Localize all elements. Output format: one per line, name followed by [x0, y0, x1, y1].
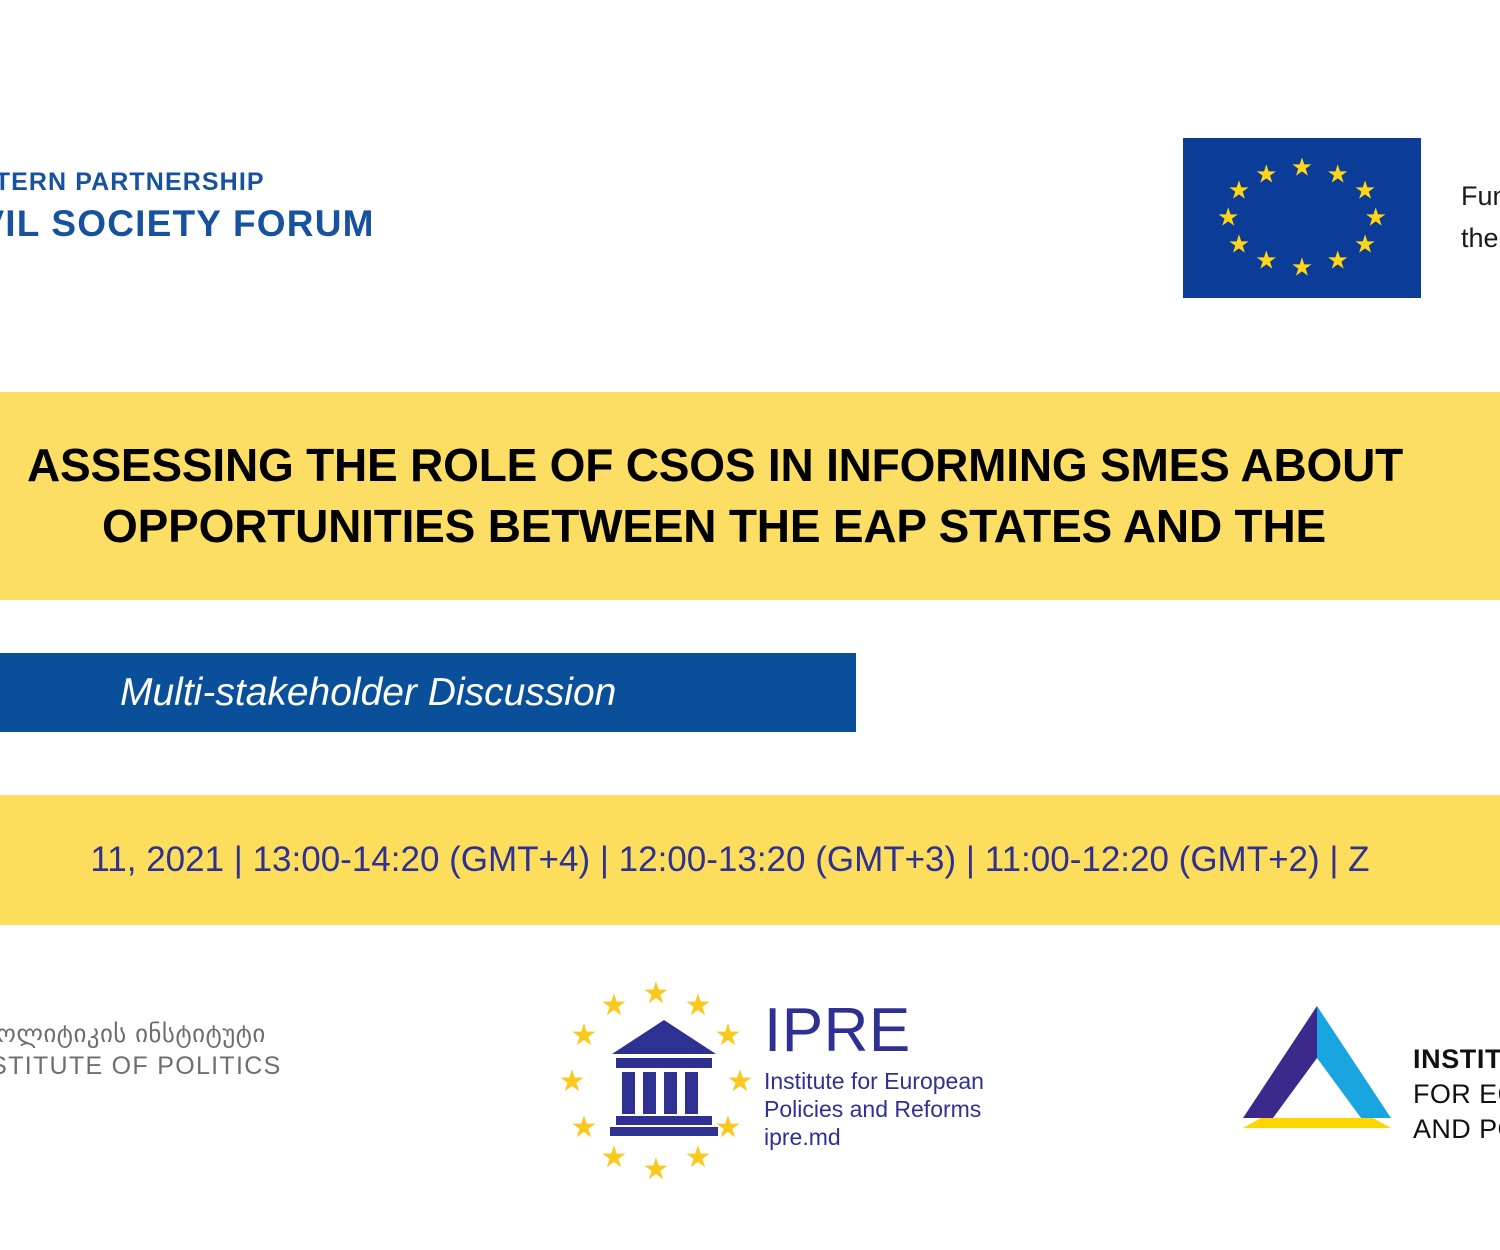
eu-star: ★: [1365, 206, 1387, 231]
partner-logo-institute-for-economic-research: INSTITUT FOR ECO AND POL: [1237, 1000, 1500, 1150]
eu-funded-by-text: Fun the: [1461, 176, 1500, 260]
eu-funded-line1: Fun: [1461, 176, 1500, 218]
eapcsf-logo-line1: EASTERN PARTNERSHIP: [0, 168, 460, 198]
eu-star: ★: [1291, 255, 1313, 280]
eu-star: ★: [1217, 206, 1239, 231]
eu-star: ★: [1228, 178, 1250, 203]
ipre-star: ★: [601, 991, 628, 1021]
triangle-mark-icon: [1237, 1000, 1397, 1135]
eu-funding-block: ★ ★ ★ ★ ★ ★ ★ ★ ★ ★ ★ ★ Fun the: [1183, 138, 1500, 298]
ier-line-3: AND POL: [1413, 1112, 1500, 1147]
ipre-star: ★: [643, 1155, 670, 1185]
title-band: ASSESSING THE ROLE OF CSOS IN INFORMING …: [0, 392, 1500, 600]
eu-star: ★: [1326, 162, 1348, 187]
eu-star: ★: [1255, 162, 1277, 187]
ipre-star: ★: [571, 1113, 598, 1143]
event-details-text: 11, 2021 | 13:00-14:20 (GMT+4) | 12:00-1…: [90, 840, 1369, 880]
event-banner-slide: EASTERN PARTNERSHIP CIVIL SOCIETY FORUM …: [0, 0, 1500, 1250]
ipre-star: ★: [643, 979, 670, 1009]
classical-building-icon: [608, 1018, 720, 1138]
ipre-subtitle-line1: Institute for European: [764, 1067, 984, 1095]
ipre-star: ★: [559, 1067, 586, 1097]
european-union-flag-icon: ★ ★ ★ ★ ★ ★ ★ ★ ★ ★ ★ ★: [1183, 138, 1421, 298]
eu-star: ★: [1228, 233, 1250, 258]
eu-star: ★: [1255, 249, 1277, 274]
ipre-star: ★: [685, 1143, 712, 1173]
ipre-wordmark: IPRE: [764, 1002, 984, 1061]
partner-logo-georgian-institute-of-politics: ველოს პოლიტიკის ინსტიტუტი GIAN INSTITUTE…: [0, 1018, 358, 1083]
title-line-2: OPPORTUNITIES BETWEEN THE EAP STATES AND…: [102, 496, 1326, 557]
eu-funded-line2: the: [1461, 218, 1500, 260]
gip-logo-georgian-text: ველოს პოლიტიკის ინსტიტუტი: [0, 1018, 358, 1049]
gip-logo-english-text: GIAN INSTITUTE OF POLITICS: [0, 1051, 358, 1082]
ier-line-1: INSTITUT: [1413, 1042, 1500, 1077]
eu-star: ★: [1354, 233, 1376, 258]
eu-star: ★: [1354, 178, 1376, 203]
partner-logo-ipre: ★ ★ ★ ★ ★ ★ ★ ★ ★ ★ ★ ★ IPRE Institute f…: [556, 982, 976, 1192]
ier-line-2: FOR ECO: [1413, 1077, 1500, 1112]
subtitle-text: Multi-stakeholder Discussion: [120, 671, 616, 715]
ipre-website: ipre.md: [764, 1123, 984, 1151]
subtitle-band: Multi-stakeholder Discussion: [0, 653, 856, 732]
eap-civil-society-forum-logo: EASTERN PARTNERSHIP CIVIL SOCIETY FORUM: [0, 168, 460, 245]
event-details-band: 11, 2021 | 13:00-14:20 (GMT+4) | 12:00-1…: [0, 795, 1500, 925]
eu-star: ★: [1326, 249, 1348, 274]
ipre-star: ★: [571, 1021, 598, 1051]
eapcsf-logo-line2: CIVIL SOCIETY FORUM: [0, 202, 460, 246]
ipre-star: ★: [727, 1067, 754, 1097]
eu-star: ★: [1291, 156, 1313, 181]
ipre-star: ★: [601, 1143, 628, 1173]
ipre-star: ★: [685, 991, 712, 1021]
ipre-subtitle-line2: Policies and Reforms: [764, 1095, 984, 1123]
title-line-1: ASSESSING THE ROLE OF CSOS IN INFORMING …: [27, 435, 1403, 496]
ipre-text-block: IPRE Institute for European Policies and…: [764, 1002, 984, 1151]
ier-text-block: INSTITUT FOR ECO AND POL: [1413, 1042, 1500, 1147]
